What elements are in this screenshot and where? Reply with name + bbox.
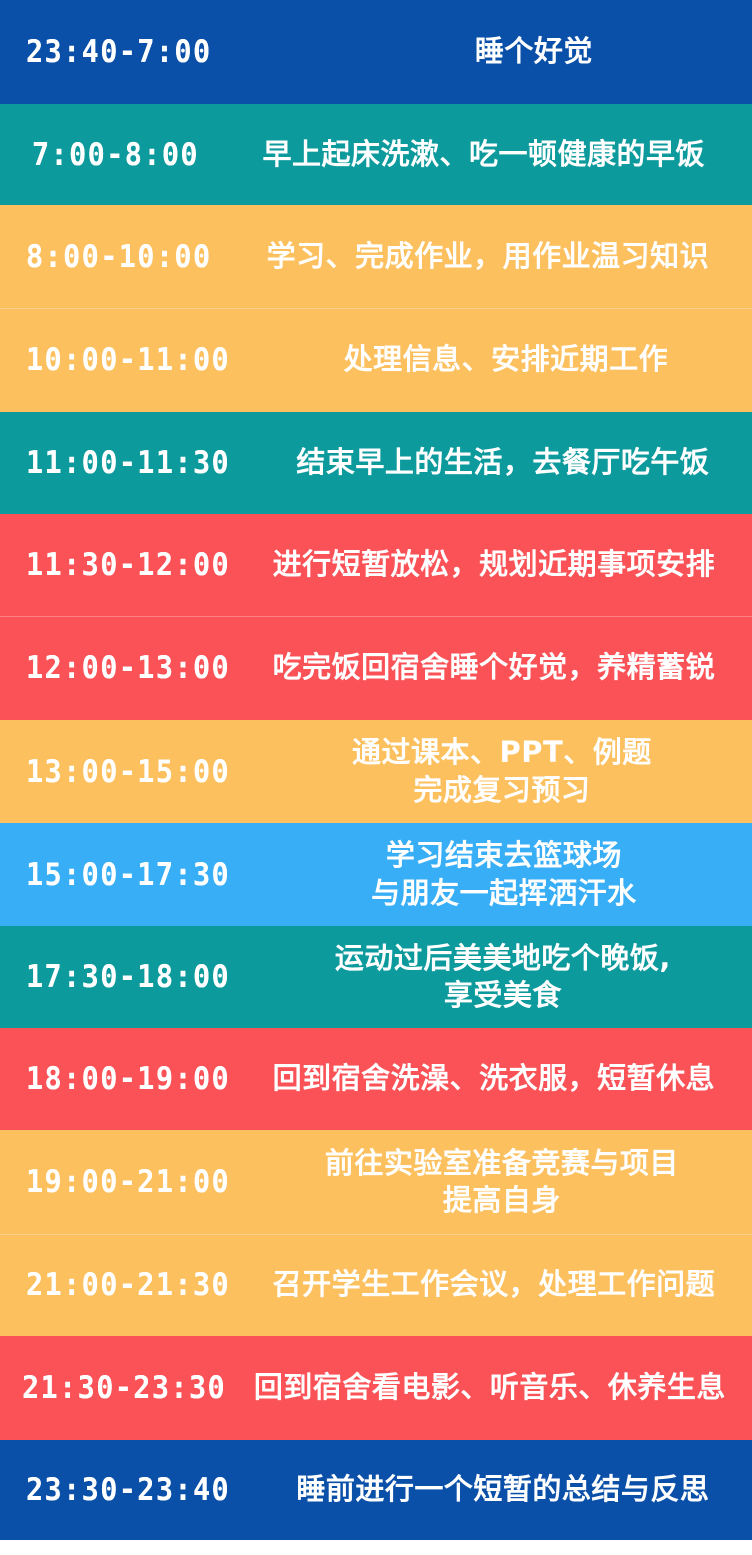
schedule-row: 21:30-23:30回到宿舍看电影、听音乐、休养生息 — [0, 1336, 752, 1440]
row-time-range: 11:30-12:00 — [26, 547, 230, 583]
row-activity-description: 前往实验室准备竞赛与项目 提高自身 — [270, 1145, 734, 1219]
row-time-range: 19:00-21:00 — [26, 1164, 230, 1200]
schedule-row: 21:00-21:30召开学生工作会议，处理工作问题 — [0, 1234, 752, 1336]
row-activity-description: 学习、完成作业，用作业温习知识 — [242, 238, 734, 275]
schedule-row: 8:00-10:00学习、完成作业，用作业温习知识 — [0, 205, 752, 308]
schedule-row: 15:00-17:30学习结束去篮球场 与朋友一起挥洒汗水 — [0, 823, 752, 926]
row-time-range: 8:00-10:00 — [26, 239, 212, 275]
row-activity-description: 早上起床洗漱、吃一顿健康的早饭 — [233, 136, 734, 173]
schedule-row: 11:30-12:00进行短暂放松，规划近期事项安排 — [0, 514, 752, 616]
row-time-range: 21:00-21:30 — [26, 1267, 230, 1303]
row-activity-description: 召开学生工作会议，处理工作问题 — [254, 1266, 734, 1303]
schedule-row: 11:00-11:30结束早上的生活，去餐厅吃午饭 — [0, 412, 752, 514]
row-time-range: 10:00-11:00 — [26, 342, 230, 378]
row-time-range: 23:40-7:00 — [26, 34, 212, 70]
row-activity-description: 睡前进行一个短暂的总结与反思 — [272, 1471, 734, 1508]
schedule-row: 23:30-23:40睡前进行一个短暂的总结与反思 — [0, 1440, 752, 1540]
schedule-row: 18:00-19:00回到宿舍洗澡、洗衣服，短暂休息 — [0, 1028, 752, 1130]
row-activity-description: 回到宿舍洗澡、洗衣服，短暂休息 — [254, 1060, 734, 1097]
row-activity-description: 处理信息、安排近期工作 — [278, 341, 734, 378]
row-activity-description: 回到宿舍看电影、听音乐、休养生息 — [246, 1369, 734, 1406]
daily-schedule-infographic: 23:40-7:00睡个好觉7:00-8:00早上起床洗漱、吃一顿健康的早饭8:… — [0, 0, 752, 1555]
row-activity-description: 学习结束去篮球场 与朋友一起挥洒汗水 — [274, 837, 734, 911]
row-time-range: 18:00-19:00 — [26, 1061, 230, 1097]
row-time-range: 7:00-8:00 — [32, 137, 199, 173]
schedule-row: 19:00-21:00前往实验室准备竞赛与项目 提高自身 — [0, 1130, 752, 1234]
row-activity-description: 结束早上的生活，去餐厅吃午饭 — [272, 444, 734, 481]
schedule-row: 7:00-8:00早上起床洗漱、吃一顿健康的早饭 — [0, 104, 752, 205]
row-activity-description: 吃完饭回宿舍睡个好觉，养精蓄锐 — [254, 649, 734, 686]
schedule-row: 10:00-11:00处理信息、安排近期工作 — [0, 308, 752, 412]
row-time-range: 21:30-23:30 — [22, 1370, 226, 1406]
row-activity-description: 运动过后美美地吃个晚饭, 享受美食 — [272, 940, 734, 1014]
row-activity-description: 进行短暂放松，规划近期事项安排 — [254, 546, 734, 583]
row-activity-description: 睡个好觉 — [334, 33, 734, 70]
row-time-range: 11:00-11:30 — [26, 445, 230, 481]
row-time-range: 15:00-17:30 — [26, 857, 230, 893]
row-time-range: 23:30-23:40 — [26, 1472, 230, 1508]
schedule-row: 23:40-7:00睡个好觉 — [0, 0, 752, 104]
schedule-row: 17:30-18:00运动过后美美地吃个晚饭, 享受美食 — [0, 926, 752, 1028]
row-time-range: 12:00-13:00 — [26, 650, 230, 686]
schedule-row: 13:00-15:00通过课本、PPT、例题 完成复习预习 — [0, 720, 752, 823]
row-time-range: 13:00-15:00 — [26, 754, 230, 790]
row-activity-description: 通过课本、PPT、例题 完成复习预习 — [270, 734, 734, 808]
schedule-row: 12:00-13:00吃完饭回宿舍睡个好觉，养精蓄锐 — [0, 616, 752, 720]
row-time-range: 17:30-18:00 — [26, 959, 230, 995]
